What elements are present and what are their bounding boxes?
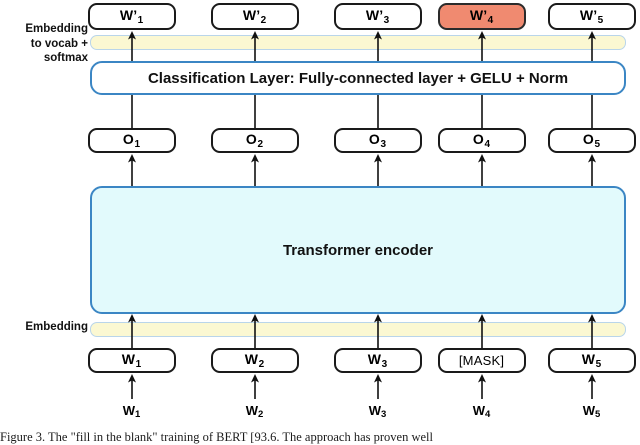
embedding-bar-input bbox=[90, 322, 626, 337]
transformer-encoder-label: Transformer encoder bbox=[283, 242, 433, 259]
arrow-encoder-to-hidden-2 bbox=[249, 154, 261, 186]
classification-layer-label: Classification Layer: Fully-connected la… bbox=[148, 70, 568, 87]
figure-caption: Figure 3. The "fill in the blank" traini… bbox=[0, 430, 640, 445]
arrow-source-to-input-2 bbox=[249, 374, 261, 399]
node-base: W1 bbox=[122, 351, 141, 369]
hidden-node-1: O1 bbox=[88, 128, 176, 153]
node-base: W’5 bbox=[580, 7, 603, 25]
input-node-1: W1 bbox=[88, 348, 176, 373]
arrow-source-to-input-1 bbox=[126, 374, 138, 399]
arrow-classification-to-output-1 bbox=[126, 31, 138, 61]
input-node-2: W2 bbox=[211, 348, 299, 373]
node-base: O1 bbox=[123, 131, 140, 149]
output-node-2: W’2 bbox=[211, 3, 299, 30]
arrow-source-to-input-3 bbox=[372, 374, 384, 399]
input-node-5: W5 bbox=[548, 348, 636, 373]
connector-output-stem-1 bbox=[126, 95, 138, 128]
hidden-node-2: O2 bbox=[211, 128, 299, 153]
side-label-line-3: softmax bbox=[2, 51, 88, 66]
source-token-1: W1 bbox=[92, 403, 172, 420]
arrow-source-to-input-5 bbox=[586, 374, 598, 399]
node-base: O5 bbox=[583, 131, 600, 149]
arrow-embedding-to-encoder-2 bbox=[249, 314, 261, 348]
side-label-line-1: Embedding bbox=[2, 22, 88, 37]
arrow-embedding-to-encoder-3 bbox=[372, 314, 384, 348]
node-base: W’2 bbox=[243, 7, 266, 25]
arrow-classification-to-output-5 bbox=[586, 31, 598, 61]
node-base: W’4 bbox=[470, 7, 493, 25]
input-node-3: W3 bbox=[334, 348, 422, 373]
output-node-3: W’3 bbox=[334, 3, 422, 30]
source-token-4: W4 bbox=[442, 403, 522, 420]
connector-output-stem-2 bbox=[249, 95, 261, 128]
arrow-embedding-to-encoder-1 bbox=[126, 314, 138, 348]
connector-output-stem-5 bbox=[586, 95, 598, 128]
output-node-5: W’5 bbox=[548, 3, 636, 30]
node-base: [MASK] bbox=[459, 353, 504, 368]
side-label-embedding: Embedding bbox=[2, 320, 88, 335]
hidden-node-3: O3 bbox=[334, 128, 422, 153]
hidden-node-5: O5 bbox=[548, 128, 636, 153]
arrow-encoder-to-hidden-1 bbox=[126, 154, 138, 186]
arrow-embedding-to-encoder-5 bbox=[586, 314, 598, 348]
node-base: W2 bbox=[245, 351, 264, 369]
source-token-5: W5 bbox=[552, 403, 632, 420]
output-node-1: W’1 bbox=[88, 3, 176, 30]
arrow-source-to-input-4 bbox=[476, 374, 488, 399]
arrow-classification-to-output-4 bbox=[476, 31, 488, 61]
transformer-encoder-block: Transformer encoder bbox=[90, 186, 626, 314]
embedding-bar-vocab bbox=[90, 35, 626, 50]
arrow-classification-to-output-3 bbox=[372, 31, 384, 61]
side-label-embedding-to-vocab: Embedding to vocab + softmax bbox=[2, 22, 88, 66]
figure-canvas: Embedding to vocab + softmax Embedding C… bbox=[0, 0, 640, 445]
node-base: O3 bbox=[369, 131, 386, 149]
arrow-embedding-to-encoder-4 bbox=[476, 314, 488, 348]
arrow-encoder-to-hidden-3 bbox=[372, 154, 384, 186]
side-label-line-2: to vocab + bbox=[2, 37, 88, 52]
input-node-4: [MASK] bbox=[438, 348, 526, 373]
output-node-4: W’4 bbox=[438, 3, 526, 30]
node-base: W5 bbox=[582, 351, 601, 369]
source-token-3: W3 bbox=[338, 403, 418, 420]
source-token-2: W2 bbox=[215, 403, 295, 420]
node-base: W’1 bbox=[120, 7, 143, 25]
classification-layer-block: Classification Layer: Fully-connected la… bbox=[90, 61, 626, 95]
node-base: O2 bbox=[246, 131, 263, 149]
node-base: O4 bbox=[473, 131, 490, 149]
node-base: W’3 bbox=[366, 7, 389, 25]
arrow-classification-to-output-2 bbox=[249, 31, 261, 61]
connector-output-stem-4 bbox=[476, 95, 488, 128]
hidden-node-4: O4 bbox=[438, 128, 526, 153]
node-base: W3 bbox=[368, 351, 387, 369]
arrow-encoder-to-hidden-4 bbox=[476, 154, 488, 186]
arrow-encoder-to-hidden-5 bbox=[586, 154, 598, 186]
connector-output-stem-3 bbox=[372, 95, 384, 128]
